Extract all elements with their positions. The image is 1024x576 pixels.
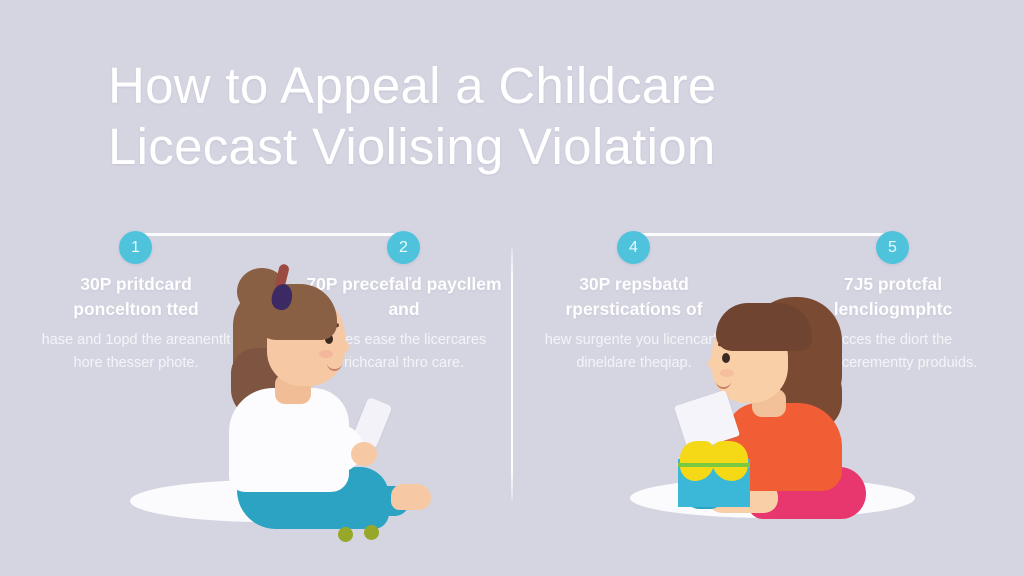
step-block-1: 30P pritdcard ponceltıon tted hase and 1… [37, 272, 235, 375]
step-connector-line-right [631, 233, 895, 236]
blush-shape [319, 350, 333, 358]
page-title-line-1: How to Appeal a Childcare [108, 55, 958, 116]
step-heading-1: 30P pritdcard ponceltıon tted [37, 272, 235, 322]
gift-bow-left [680, 441, 714, 481]
gift-box [678, 443, 750, 505]
page-title: How to Appeal a Childcare Licecast Violi… [108, 55, 958, 177]
step-marker-2[interactable]: 2 [387, 231, 420, 264]
smile-shape [327, 361, 342, 371]
section-divider [511, 248, 513, 500]
infographic-canvas: How to Appeal a Childcare Licecast Violi… [0, 0, 1024, 576]
green-dot-decoration [364, 525, 379, 540]
blush-shape [720, 369, 734, 377]
step-connector-line-left [133, 233, 397, 236]
page-title-line-2: Licecast Violising Violation [108, 116, 958, 177]
green-dot-decoration [338, 527, 353, 542]
hand-shape [351, 442, 377, 466]
foot-shape [391, 484, 431, 510]
eye-shape [722, 353, 730, 363]
step-marker-1[interactable]: 1 [119, 231, 152, 264]
step-body-1: hase and 1opd the areanentlt hore thesse… [37, 329, 235, 375]
illustration-girl-with-phone [215, 262, 440, 507]
gift-ribbon [678, 463, 750, 467]
nose-shape [708, 357, 720, 370]
hair-front-shape [716, 303, 812, 351]
step-marker-3[interactable]: 4 [617, 231, 650, 264]
step-marker-4[interactable]: 5 [876, 231, 909, 264]
nose-shape [337, 340, 349, 353]
gift-bow-right [712, 441, 748, 481]
